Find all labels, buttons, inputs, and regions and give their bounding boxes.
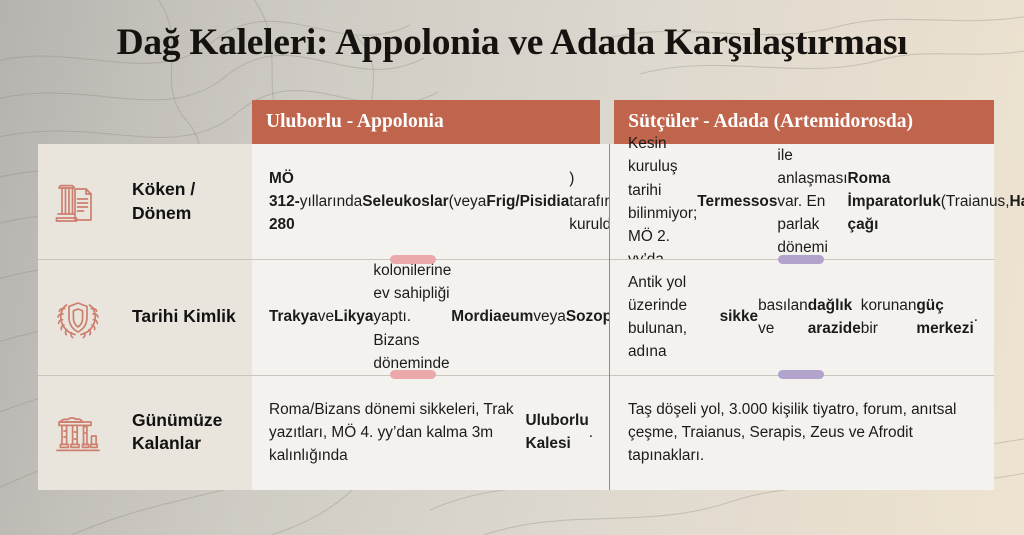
cell-sutculer: Antik yol üzerinde bulunan, adına sikke … <box>609 259 994 374</box>
column-header-divider-gap <box>600 100 614 144</box>
cell-uluborlu: Trakya ve Likya kolonilerine ev sahipliğ… <box>252 259 609 374</box>
table-body: Köken / Dönem MÖ 312-280 yıllarında Sele… <box>38 144 994 490</box>
row-label: Günümüze Kalanlar <box>118 375 252 490</box>
row-accent-pill-right <box>778 255 824 264</box>
table-row: Günümüze Kalanlar Roma/Bizans dönemi sik… <box>38 375 994 490</box>
column-header-uluborlu: Uluborlu - Appolonia <box>252 100 600 144</box>
row-label: Köken / Dönem <box>118 144 252 259</box>
cell-sutculer: Kesin kuruluş tarihi bilinmiyor; MÖ 2. y… <box>609 144 994 259</box>
table-row: Köken / Dönem MÖ 312-280 yıllarında Sele… <box>38 144 994 259</box>
comparison-table: Uluborlu - Appolonia Sütçüler - Adada (A… <box>38 100 994 490</box>
shield-laurel-icon <box>53 292 103 342</box>
cell-uluborlu: MÖ 312-280 yıllarında Seleukoslar (veya … <box>252 144 609 259</box>
row-icon-cell <box>38 375 118 490</box>
row-icon-cell <box>38 144 118 259</box>
column-divider <box>609 144 610 490</box>
ancient-ruins-icon <box>53 407 103 457</box>
row-accent-pill-right <box>778 370 824 379</box>
cell-uluborlu: Roma/Bizans dönemi sikkeleri, Trak yazıt… <box>252 375 609 490</box>
table-header-row: Uluborlu - Appolonia Sütçüler - Adada (A… <box>252 100 994 144</box>
cell-sutculer: Taş döşeli yol, 3.000 kişilik tiyatro, f… <box>609 375 994 490</box>
row-label: Tarihi Kimlik <box>118 259 252 374</box>
table-row: Tarihi Kimlik Trakya ve Likya kolonileri… <box>38 259 994 374</box>
column-scroll-icon <box>53 177 103 227</box>
row-accent-pill-left <box>390 255 436 264</box>
row-icon-cell <box>38 259 118 374</box>
page-title: Dağ Kaleleri: Appolonia ve Adada Karşıla… <box>0 21 1024 64</box>
row-accent-pill-left <box>390 370 436 379</box>
